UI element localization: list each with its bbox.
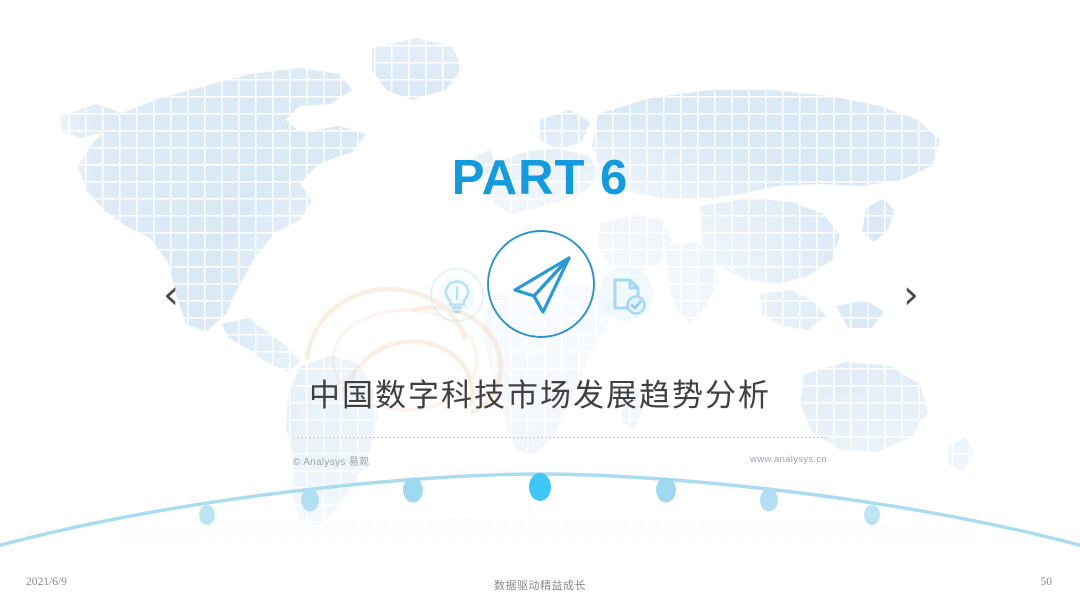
part-title: PART 6 — [0, 150, 1080, 206]
chevron-right-icon[interactable]: › — [888, 272, 934, 318]
progress-dot[interactable] — [403, 478, 423, 503]
progress-dot[interactable] — [760, 489, 778, 512]
document-check-icon — [596, 264, 656, 324]
progress-dot-active[interactable] — [529, 473, 551, 501]
dotted-divider — [293, 437, 827, 438]
progress-dot[interactable] — [301, 489, 319, 512]
icon-cluster — [420, 228, 660, 350]
progress-arc — [0, 462, 1080, 557]
footer-tagline: 数据驱动精益成长 — [0, 577, 1080, 593]
progress-dot[interactable] — [864, 505, 880, 525]
progress-dot[interactable] — [656, 478, 676, 503]
paper-plane-icon — [485, 228, 597, 340]
slide-canvas: ‹ › PART 6 — [0, 0, 1080, 608]
lightbulb-icon — [428, 266, 486, 324]
chevron-left-icon[interactable]: ‹ — [148, 272, 194, 318]
progress-dot[interactable] — [199, 505, 215, 525]
slide-subtitle: 中国数字科技市场发展趋势分析 — [0, 370, 1080, 415]
page-number: 50 — [1041, 576, 1053, 588]
